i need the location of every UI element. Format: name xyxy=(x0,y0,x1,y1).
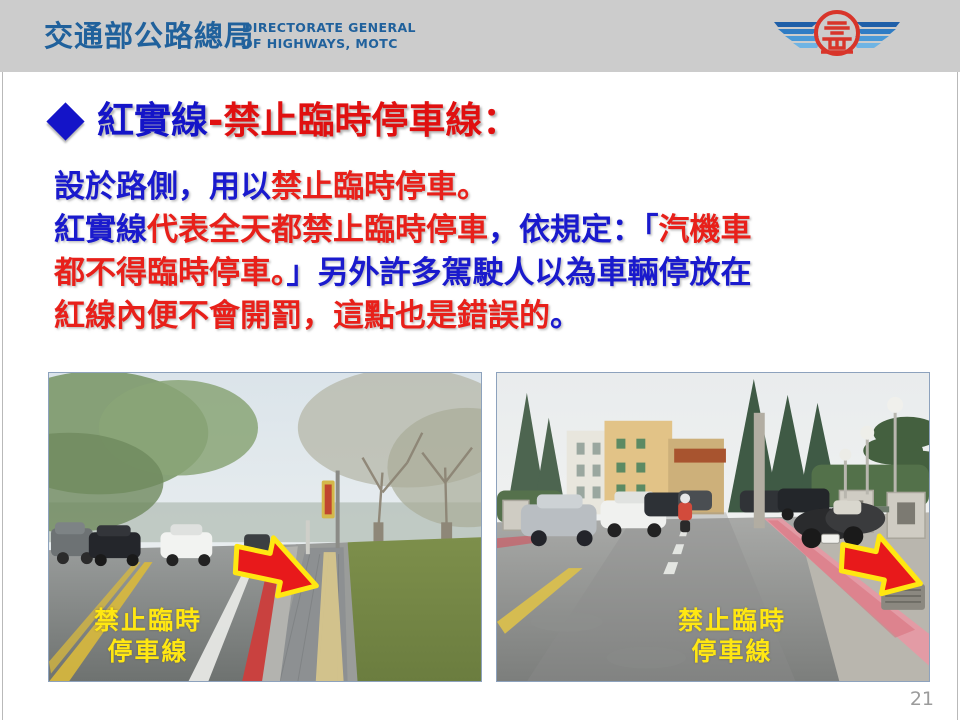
page-title: 紅實線-禁止臨時停車線： xyxy=(97,98,519,144)
photo-left-caption-line2: 停車線 xyxy=(48,636,365,667)
red-arrow-down-right-icon xyxy=(227,533,325,605)
body-line-2-blue-b: ，依規定：「 xyxy=(488,212,659,248)
body-line-1-blue: 設於路側，用以 xyxy=(54,169,271,205)
org-name-english-line2: OF HIGHWAYS, MOTC xyxy=(242,36,416,52)
title-part-blue: 紅實線 xyxy=(97,99,208,142)
photo-left-caption-line1: 禁止臨時 xyxy=(48,605,365,636)
photo-right-caption-line2: 停車線 xyxy=(515,636,930,667)
body-line-2-red-b: 汽機車 xyxy=(659,212,752,248)
photo-street-with-pink-curb-line: 禁止臨時 停車線 xyxy=(496,372,930,682)
body-line-4-blue-a: 。 xyxy=(550,298,581,334)
body-line-2-blue-a: 紅實線 xyxy=(54,212,147,248)
body-line-3-red-a: 都不得臨時停車。 xyxy=(54,255,287,291)
body-line-4-red-a: 紅線內便不會開罰，這點也是錯誤的 xyxy=(54,298,550,334)
body-line-3-blue-a: 」另外許多駕駛人以為車輛停放在 xyxy=(287,255,752,291)
photo-right-caption: 禁止臨時 停車線 xyxy=(515,605,930,667)
body-line-2-red-a: 代表全天都禁止臨時停車 xyxy=(147,212,488,248)
body-line-1: 設於路側，用以禁止臨時停車。 xyxy=(54,166,934,209)
body-line-2: 紅實線代表全天都禁止臨時停車，依規定：「汽機車 xyxy=(54,209,934,252)
slide: 交通部公路總局 DIRECTORATE GENERAL OF HIGHWAYS,… xyxy=(0,0,960,720)
photo-road-with-red-curb-line: 禁止臨時 停車線 xyxy=(48,372,482,682)
header-inner: 交通部公路總局 DIRECTORATE GENERAL OF HIGHWAYS,… xyxy=(0,0,960,72)
title-part-red: -禁止臨時停車線： xyxy=(208,99,519,142)
photo-left-caption: 禁止臨時 停車線 xyxy=(48,605,365,667)
body-text-block: 設於路側，用以禁止臨時停車。 紅實線代表全天都禁止臨時停車，依規定：「汽機車 都… xyxy=(54,166,934,338)
photo-right-caption-line1: 禁止臨時 xyxy=(515,605,930,636)
page-number: 21 xyxy=(910,688,934,710)
body-line-1-red: 禁止臨時停車。 xyxy=(271,169,488,205)
body-line-4: 紅線內便不會開罰，這點也是錯誤的。 xyxy=(54,295,934,338)
slide-title: 紅實線-禁止臨時停車線： xyxy=(52,98,519,144)
blue-diamond-bullet-icon xyxy=(46,102,84,140)
org-name-english: DIRECTORATE GENERAL OF HIGHWAYS, MOTC xyxy=(242,20,416,52)
red-arrow-down-right-icon xyxy=(833,531,929,603)
slide-border-left xyxy=(2,72,3,720)
slide-header-band: 交通部公路總局 DIRECTORATE GENERAL OF HIGHWAYS,… xyxy=(0,0,960,72)
body-line-3: 都不得臨時停車。」另外許多駕駛人以為車輛停放在 xyxy=(54,252,934,295)
slide-border-right xyxy=(957,72,958,720)
org-name-chinese: 交通部公路總局 xyxy=(44,17,254,55)
org-name-english-line1: DIRECTORATE GENERAL xyxy=(242,20,416,36)
winged-seal-emblem-icon xyxy=(772,8,902,64)
